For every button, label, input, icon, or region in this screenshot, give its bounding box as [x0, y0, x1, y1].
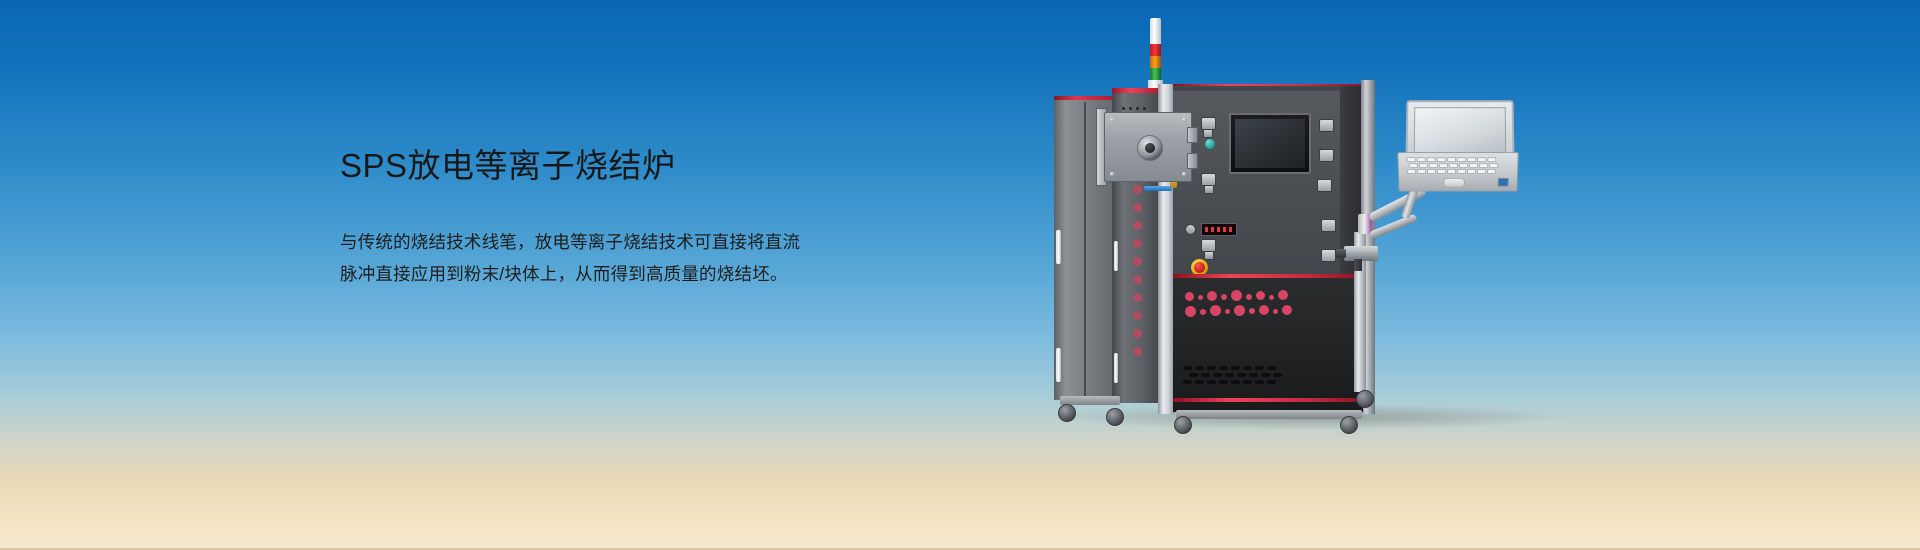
- chamber-latch-upper[interactable]: [1187, 127, 1198, 143]
- observation-camera: [1336, 246, 1380, 266]
- laptop-keyboard-base: [1397, 152, 1518, 191]
- banner-description: 与传统的烧结技术线笔，放电等离子烧结技术可直接将直流 脉冲直接应用到粉末/块体上…: [340, 226, 940, 290]
- panel-switch-left-2[interactable]: [1204, 185, 1214, 194]
- tower-lamp-amber: [1150, 56, 1161, 68]
- vacuum-chamber-door[interactable]: [1104, 112, 1192, 182]
- caster-arm-post-base: [1356, 390, 1374, 408]
- caster-left-rear: [1058, 404, 1076, 422]
- cabinet-face-handle-lower: [1114, 353, 1118, 383]
- cabinet-handle-upper: [1056, 230, 1061, 264]
- chamber-latch-lower[interactable]: [1187, 153, 1198, 169]
- cabinet-handle-lower: [1056, 348, 1061, 382]
- lower-machine-body: [1173, 274, 1363, 412]
- lcd-screen-surface: [1235, 119, 1305, 168]
- hero-banner: SPS放电等离子烧结炉 与传统的烧结技术线笔，放电等离子烧结技术可直接将直流 脉…: [0, 0, 1920, 550]
- panel-button-right-5[interactable]: [1321, 249, 1336, 262]
- tower-lamp-green: [1150, 68, 1161, 80]
- tower-lamp-red: [1150, 44, 1161, 56]
- panel-button-right-3[interactable]: [1317, 179, 1332, 192]
- caster-left-front: [1106, 408, 1124, 426]
- ventilation-grille: [1183, 366, 1313, 388]
- laptop-trackpad[interactable]: [1443, 178, 1465, 188]
- lower-stripe-bottom: [1173, 398, 1363, 402]
- blue-pipe-lower: [1144, 186, 1172, 191]
- cabinet-accent-stripe: [1054, 96, 1118, 100]
- panel-round-knob[interactable]: [1185, 224, 1196, 235]
- sps-furnace-illustration: [1040, 18, 1600, 438]
- banner-text-block: SPS放电等离子烧结炉 与传统的烧结技术线笔，放电等离子烧结技术可直接将直流 脉…: [340, 146, 940, 290]
- lcd-display[interactable]: [1229, 113, 1311, 174]
- machine-foot-bar: [1176, 410, 1362, 419]
- chamber-view-port: [1137, 135, 1163, 161]
- digital-readout: [1201, 223, 1237, 236]
- caster-front-left: [1174, 416, 1192, 434]
- camera-lens: [1336, 249, 1346, 258]
- led-indicator-array: [1185, 290, 1305, 320]
- page-title: SPS放电等离子烧结炉: [340, 146, 940, 186]
- description-line-1: 与传统的烧结技术线笔，放电等离子烧结技术可直接将直流: [340, 226, 940, 258]
- camera-mount: [1354, 259, 1362, 271]
- panel-button-mid-right[interactable]: [1319, 149, 1334, 162]
- panel-switch-top-left[interactable]: [1203, 129, 1213, 138]
- panel-button-right-4[interactable]: [1321, 219, 1336, 232]
- laptop-screen: [1414, 107, 1507, 153]
- cabinet-door-seam: [1084, 102, 1086, 396]
- description-line-2: 脉冲直接应用到粉末/块体上，从而得到高质量的烧结坯。: [340, 258, 940, 290]
- panel-switch-left-3[interactable]: [1204, 251, 1214, 260]
- panel-button-top-right[interactable]: [1319, 119, 1334, 132]
- panel-knob-teal[interactable]: [1205, 139, 1215, 149]
- caster-front-right: [1340, 416, 1358, 434]
- lower-stripe-top: [1173, 274, 1363, 278]
- laptop-badge: [1498, 178, 1509, 187]
- cabinet-face-accent-stripe: [1112, 88, 1158, 93]
- main-control-panel: [1173, 86, 1361, 277]
- laptop-keys: [1407, 157, 1504, 175]
- cabinet-face-handle-upper: [1114, 241, 1118, 271]
- operator-laptop[interactable]: [1398, 100, 1516, 192]
